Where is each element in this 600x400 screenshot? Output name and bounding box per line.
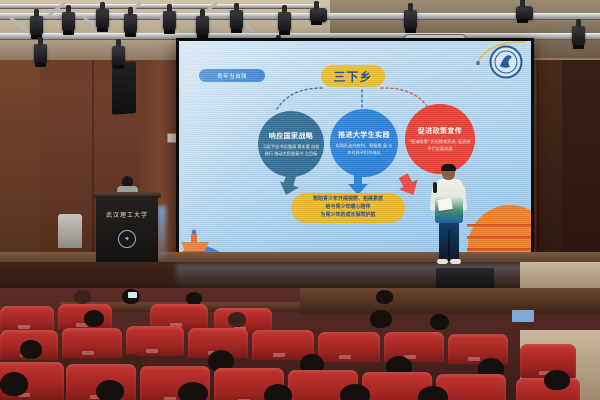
banner-line-2: 给与青少年暖心陪伴 [325, 204, 370, 212]
lighting-truss-upper [0, 4, 320, 9]
circle-3-body: "双减政策" 优化教育资源, 促进孩子们全面发展 [409, 139, 471, 152]
seat [62, 328, 122, 358]
stage-light-icon [196, 16, 209, 36]
presenter [430, 165, 468, 265]
circle-1-heading: 响应国家战略 [269, 131, 313, 141]
left-wall-panel [0, 30, 40, 280]
circle-2-body: 实践队走向农村、积极投 身,与乡村孩子们共成长 [334, 143, 394, 156]
seat [126, 326, 184, 356]
podium: 武汉理工大学 ✦ [96, 196, 158, 262]
presentation-slide: 青年当自强 三下乡 响应国家战略 习近平总书记强调 青年要 自觉践行 推动大民族… [179, 41, 531, 260]
stage-light-icon [310, 8, 327, 22]
audience-head [84, 310, 104, 327]
slide-badge: 青年当自强 [199, 69, 265, 82]
audience-head [264, 384, 292, 400]
slide-circle-1: 响应国家战略 习近平总书记强调 青年要 自觉践行 推动大民族复兴 之目标 [258, 111, 324, 177]
podium-university-name: 武汉理工大学 [96, 210, 158, 219]
phone-screen [128, 292, 137, 298]
circle-2-heading: 推进大学生实践 [338, 130, 390, 140]
audience-head [340, 384, 370, 400]
slide-circle-2: 推进大学生实践 实践队走向农村、积极投 身,与乡村孩子们共成长 [330, 109, 398, 177]
microphone-icon [433, 182, 437, 193]
led-screen: 青年当自强 三下乡 响应国家战略 习近平总书记强调 青年要 自觉践行 推动大民族… [176, 38, 534, 263]
wall-speaker-box [112, 61, 136, 115]
presenter-hair [441, 164, 456, 171]
stage-light-icon [230, 10, 243, 30]
audience-area [0, 288, 600, 400]
banner-line-1: 帮助青少年开阔视野、拓展素质 [313, 196, 383, 204]
circle-3-heading: 促进政策宣传 [418, 126, 462, 136]
podium-light-glow [157, 206, 166, 260]
stage-floor-monitor [436, 268, 494, 290]
auditorium-photo: 青年当自强 三下乡 响应国家战略 习近平总书记强调 青年要 自觉践行 推动大民族… [0, 0, 600, 400]
university-logo-icon [489, 45, 523, 79]
audience-head [0, 372, 28, 396]
stage-light-icon [96, 9, 109, 29]
slide-circle-3: 促进政策宣传 "双减政策" 优化教育资源, 促进孩子们全面发展 [405, 104, 475, 174]
seat [0, 306, 54, 332]
stage-light-icon [62, 12, 75, 32]
audience-head [544, 370, 570, 390]
slide-conclusion-banner: 帮助青少年开阔视野、拓展素质 给与青少年暖心陪伴 为青少年的成长保驾护航 [291, 193, 405, 223]
presenter-leg-split [448, 231, 450, 261]
stage-light-icon [404, 10, 417, 30]
audience-head [74, 290, 91, 304]
slide-title: 三下乡 [321, 65, 385, 87]
wall-seam [536, 36, 538, 286]
stage-light-icon [572, 26, 585, 46]
back-desk-row [300, 288, 600, 314]
audience-head [370, 310, 392, 328]
wall-seam [92, 40, 94, 280]
audience-head [20, 340, 42, 359]
circle-1-body: 习近平总书记强调 青年要 自觉践行 推动大民族复兴 之目标 [262, 144, 320, 157]
banner-line-3: 为青少年的成长保驾护航 [320, 212, 375, 220]
stage-light-icon [278, 12, 291, 32]
right-wall-panel [562, 30, 600, 290]
stage-light-icon [124, 14, 137, 34]
university-seal-icon: ✦ [118, 230, 136, 248]
stage-light-icon [34, 44, 47, 64]
arrow-down-red-icon [397, 171, 425, 197]
lighting-truss-front [0, 13, 600, 20]
stage-light-icon [163, 11, 176, 31]
stage-light-icon [516, 6, 533, 20]
presenter-shoe-left [437, 259, 448, 264]
dotted-line-center [357, 89, 367, 111]
stage-light-icon [30, 16, 43, 36]
audience-head [430, 314, 449, 330]
presenter-shoe-right [450, 259, 461, 264]
audience-head [228, 312, 246, 327]
stage-light-icon [112, 46, 125, 66]
laptop-screen [512, 310, 534, 322]
presenter-script-paper [437, 198, 453, 211]
audience-head [178, 382, 208, 400]
stage-chair [58, 214, 82, 248]
dotted-arc-left [275, 85, 329, 111]
audience-head [376, 290, 393, 304]
seat [318, 332, 380, 362]
audience-head [96, 380, 124, 400]
